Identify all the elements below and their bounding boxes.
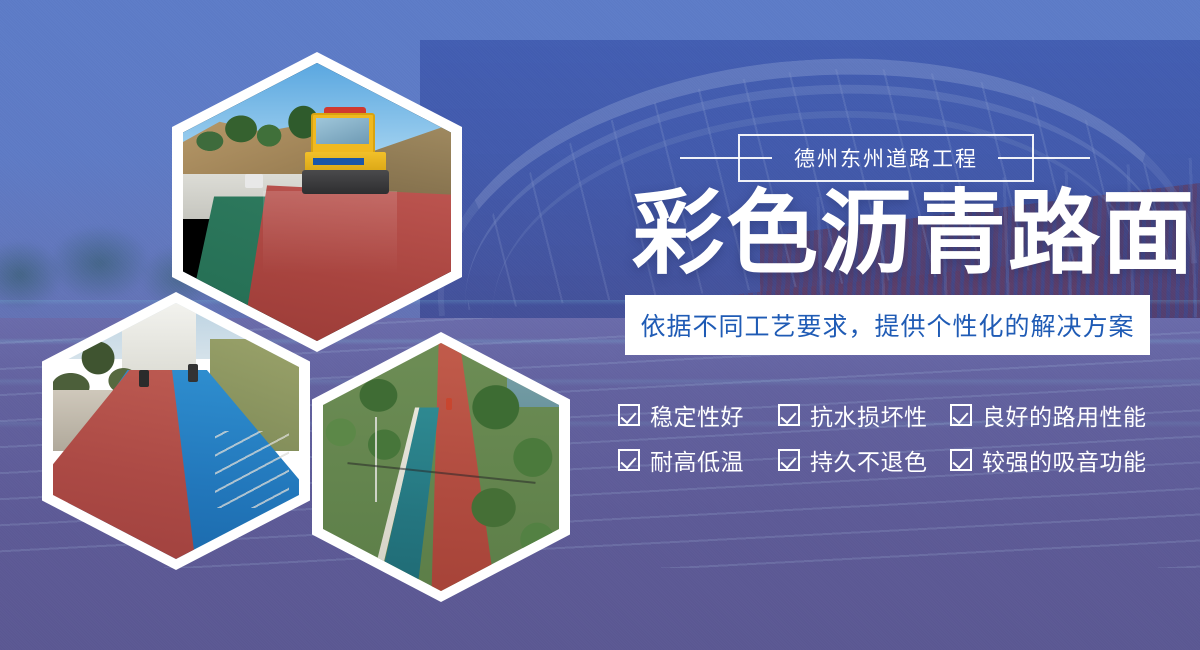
photo-roller-parked-car xyxy=(245,174,264,188)
feature-item-5: 持久不退色 xyxy=(778,437,950,482)
photo-village-motorcycle-one xyxy=(139,370,149,388)
photo-path-lamp-pole xyxy=(375,417,377,501)
check-icon xyxy=(950,449,972,471)
feature-label-5: 持久不退色 xyxy=(810,443,928,477)
roller-decal-stripe xyxy=(313,158,364,165)
photo-village-guardrail xyxy=(215,431,289,508)
feature-item-4: 耐高低温 xyxy=(618,437,778,482)
photo-roller-machine xyxy=(304,107,395,207)
feature-label-6: 较强的吸音功能 xyxy=(982,443,1147,477)
subtitle-text: 依据不同工艺要求，提供个性化的解决方案 xyxy=(640,307,1134,343)
check-icon xyxy=(618,404,640,426)
feature-label-4: 耐高低温 xyxy=(650,443,744,477)
subtitle-panel: 依据不同工艺要求，提供个性化的解决方案 xyxy=(625,295,1150,355)
photo-village-motorcycle-two xyxy=(188,364,198,382)
hexagon-photo-bike-path-inner xyxy=(323,343,559,591)
hexagon-photo-roller-inner xyxy=(183,63,451,341)
check-icon xyxy=(778,404,800,426)
page-title: 彩色沥青路面 xyxy=(632,186,1152,282)
company-badge-row: 德州东州道路工程 xyxy=(680,134,1090,182)
feature-item-2: 抗水损坏性 xyxy=(778,392,950,437)
feature-list: 稳定性好 抗水损坏性 良好的路用性能 耐高低温 持久不退色 较强的吸音功能 xyxy=(618,392,1178,482)
check-icon xyxy=(778,449,800,471)
badge-rule-right xyxy=(998,157,1090,159)
feature-item-6: 较强的吸音功能 xyxy=(950,437,1178,482)
feature-label-2: 抗水损坏性 xyxy=(810,398,928,432)
photo-roller xyxy=(183,63,451,341)
feature-label-1: 稳定性好 xyxy=(650,398,744,432)
roller-window xyxy=(316,118,369,144)
company-badge-label: 德州东州道路工程 xyxy=(794,143,978,173)
feature-item-1: 稳定性好 xyxy=(618,392,778,437)
hexagon-photo-village-road-inner xyxy=(53,303,299,559)
banner-stage: 德州东州道路工程 彩色沥青路面 依据不同工艺要求，提供个性化的解决方案 稳定性好… xyxy=(0,0,1200,650)
company-badge: 德州东州道路工程 xyxy=(738,134,1034,182)
photo-path-pedestrian xyxy=(446,398,452,410)
feature-label-3: 良好的路用性能 xyxy=(982,398,1147,432)
roller-drum xyxy=(302,170,389,194)
check-icon xyxy=(618,449,640,471)
check-icon xyxy=(950,404,972,426)
feature-item-3: 良好的路用性能 xyxy=(950,392,1178,437)
